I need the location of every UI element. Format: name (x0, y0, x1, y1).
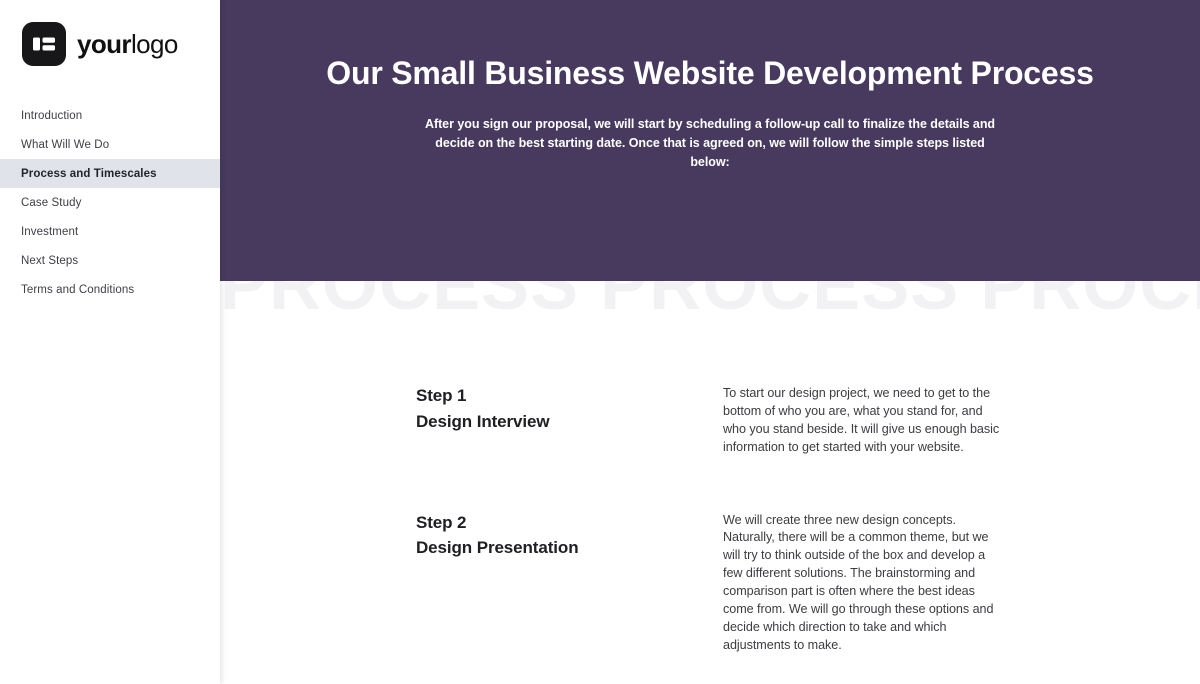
step-item: Step 1 Design Interview To start our des… (220, 383, 1200, 457)
sidebar-item-label: Next Steps (21, 255, 78, 267)
sidebar: yourlogo Introduction What Will We Do Pr… (0, 0, 220, 684)
sidebar-item-what-will-we-do[interactable]: What Will We Do (0, 130, 220, 159)
sidebar-item-terms-and-conditions[interactable]: Terms and Conditions (0, 275, 220, 304)
brand-name: yourlogo (77, 31, 178, 57)
step-name: Design Interview (416, 409, 723, 435)
step-heading-column: Step 2 Design Presentation (416, 510, 723, 561)
hero-banner: Our Small Business Website Development P… (220, 0, 1200, 281)
step-item: Step 2 Design Presentation We will creat… (220, 510, 1200, 655)
step-body-column: We will create three new design concepts… (723, 510, 1008, 655)
sidebar-item-investment[interactable]: Investment (0, 217, 220, 246)
page-title: Our Small Business Website Development P… (280, 52, 1140, 95)
sidebar-item-next-steps[interactable]: Next Steps (0, 246, 220, 275)
sidebar-item-label: Case Study (21, 197, 81, 209)
sidebar-item-introduction[interactable]: Introduction (0, 101, 220, 130)
step-description: We will create three new design concepts… (723, 510, 1008, 655)
steps-list: Step 1 Design Interview To start our des… (220, 281, 1200, 655)
sidebar-item-label: Terms and Conditions (21, 284, 134, 296)
brand-logo[interactable]: yourlogo (0, 0, 220, 66)
step-number: Step 1 (416, 383, 723, 409)
main-content: Our Small Business Website Development P… (220, 0, 1200, 684)
brand-name-bold: your (77, 29, 131, 59)
sidebar-item-label: Introduction (21, 110, 82, 122)
step-number: Step 2 (416, 510, 723, 536)
step-heading-column: Step 1 Design Interview (416, 383, 723, 434)
layout-icon (22, 22, 66, 66)
sidebar-item-case-study[interactable]: Case Study (0, 188, 220, 217)
sidebar-item-label: What Will We Do (21, 139, 109, 151)
step-body-column: To start our design project, we need to … (723, 383, 1008, 457)
hero-subtitle: After you sign our proposal, we will sta… (415, 115, 1005, 172)
brand-name-light: logo (131, 29, 178, 59)
sidebar-item-label: Process and Timescales (21, 168, 157, 180)
sidebar-item-label: Investment (21, 226, 78, 238)
sidebar-item-process-and-timescales[interactable]: Process and Timescales (0, 159, 220, 188)
sidebar-nav: Introduction What Will We Do Process and… (0, 101, 220, 304)
step-description: To start our design project, we need to … (723, 383, 1008, 457)
step-name: Design Presentation (416, 535, 723, 561)
proposal-page: yourlogo Introduction What Will We Do Pr… (0, 0, 1200, 684)
